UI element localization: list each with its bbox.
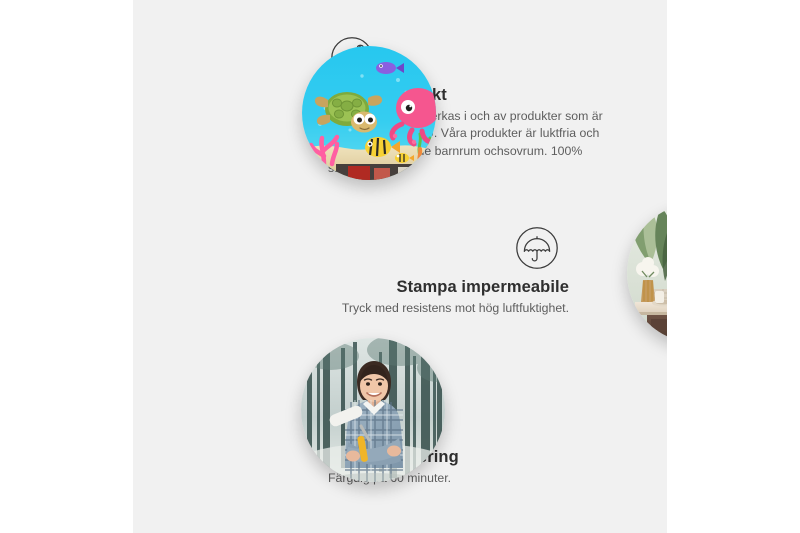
product-feature-banner: Luktfri produkt Alla våra tavlor tillver…: [0, 0, 800, 533]
bathroom-leaf-mural-photo: [627, 203, 667, 343]
underwater-scene-art: [302, 46, 436, 180]
painter-forest-art: [301, 338, 445, 482]
bathroom-scene-art: [627, 203, 667, 343]
feature-panel: Luktfri produkt Alla våra tavlor tillver…: [133, 0, 667, 533]
underwater-kids-mural-photo: [302, 46, 436, 180]
feature-heading: Stampa impermeabile: [221, 278, 569, 297]
feature-body: Tryck med resistens mot hög luftfuktighe…: [221, 300, 569, 317]
woman-painter-forest-mural-photo: [301, 338, 445, 482]
umbrella-icon: [515, 226, 559, 270]
feature-block-waterproof-print: Stampa impermeabile Tryck med resistens …: [221, 226, 569, 317]
